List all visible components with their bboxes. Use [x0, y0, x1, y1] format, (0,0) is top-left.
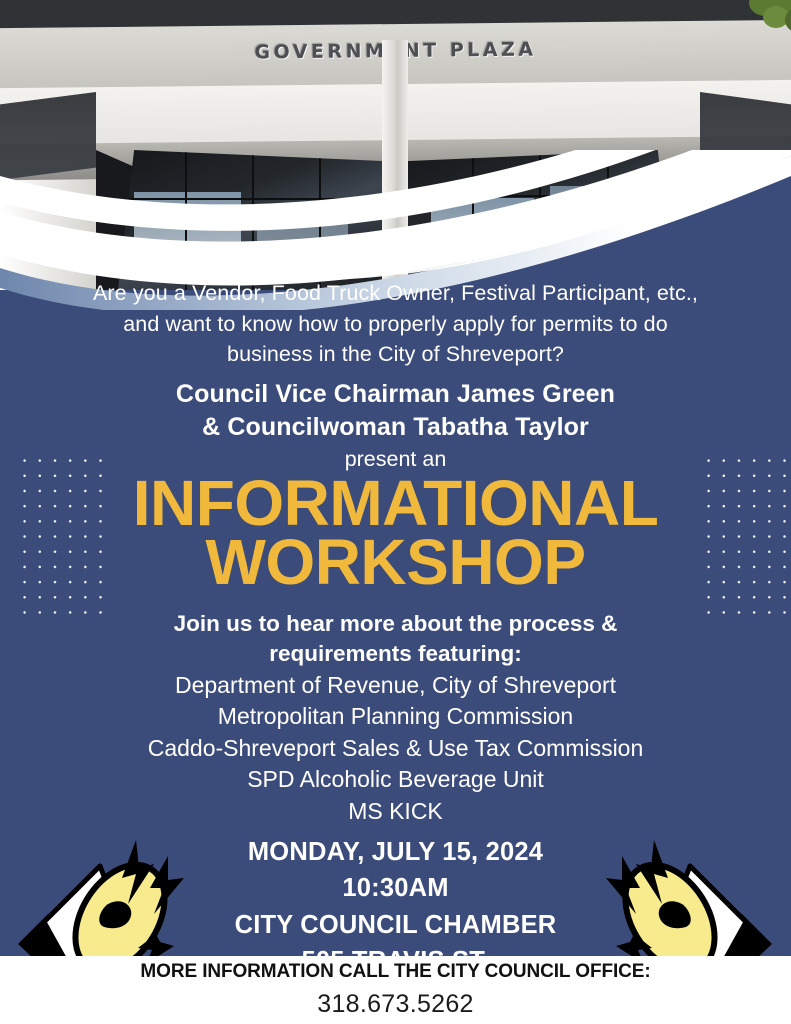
headline-line-1: INFORMATIONAL — [0, 474, 791, 534]
headline-line-2: WORKSHOP — [0, 533, 791, 593]
agency-item: Caddo-Shreveport Sales & Use Tax Commiss… — [0, 733, 791, 765]
presenter-line-2: & Councilwoman Tabatha Taylor — [0, 411, 791, 445]
agency-list: Department of Revenue, City of Shrevepor… — [0, 670, 791, 828]
presenter-line-1: Council Vice Chairman James Green — [0, 378, 791, 412]
flyer-footer: MORE INFORMATION CALL THE CITY COUNCIL O… — [0, 956, 791, 1024]
footer-call-to-action: MORE INFORMATION CALL THE CITY COUNCIL O… — [0, 961, 791, 983]
building-glass-left — [118, 150, 386, 290]
agency-item: MS KICK — [0, 796, 791, 828]
join-line-2: requirements featuring: — [0, 639, 791, 670]
intro-line-2: and want to know how to properly apply f… — [28, 309, 763, 340]
join-line-1: Join us to hear more about the process & — [0, 609, 791, 640]
headline-block: INFORMATIONAL WORKSHOP — [0, 474, 791, 593]
government-plaza-photo: GOVERNMENT PLAZA — [0, 0, 791, 290]
intro-line-3: business in the City of Shreveport? — [28, 339, 763, 370]
flyer-poster: GOVERNMENT PLAZA — [0, 0, 791, 1024]
building-center-column — [382, 40, 408, 290]
agency-item: Metropolitan Planning Commission — [0, 701, 791, 733]
presenters-block: Council Vice Chairman James Green & Coun… — [0, 378, 791, 445]
street-number-plaque: 505 — [208, 249, 230, 259]
building-left-dark-panel — [0, 92, 96, 180]
tree-foliage-icon — [709, 0, 791, 52]
building-glass-right — [404, 150, 674, 290]
agency-item: SPD Alcoholic Beverage Unit — [0, 764, 791, 796]
agency-item: Department of Revenue, City of Shrevepor… — [0, 670, 791, 702]
footer-phone-number[interactable]: 318.673.5262 — [0, 990, 791, 1019]
join-block: Join us to hear more about the process &… — [0, 609, 791, 670]
intro-line-1: Are you a Vendor, Food Truck Owner, Fest… — [28, 278, 763, 309]
intro-paragraph: Are you a Vendor, Food Truck Owner, Fest… — [0, 278, 791, 370]
building-right-dark-panel — [700, 92, 791, 180]
